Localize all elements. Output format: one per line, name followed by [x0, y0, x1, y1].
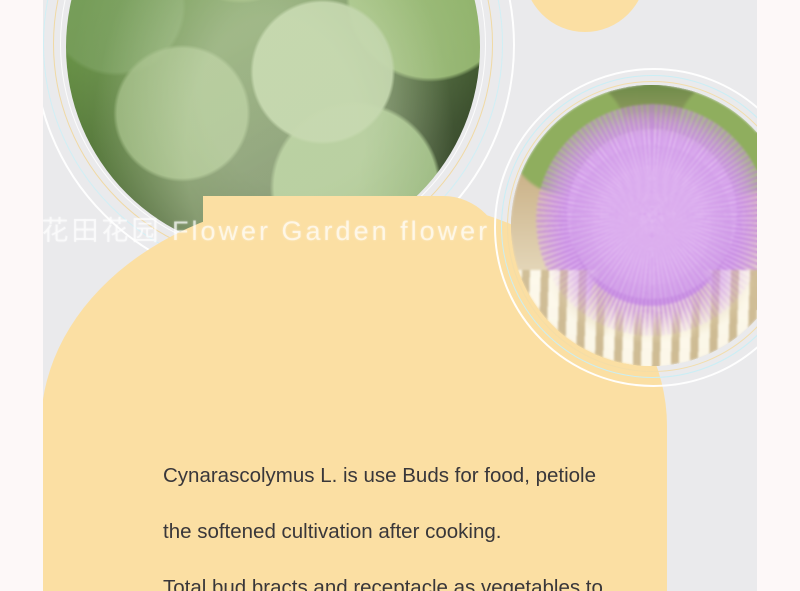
screenshot-root: org 花田花园 Flower Garden flower Cynarascol…	[0, 0, 800, 591]
slide-body-text: Cynarascolymus L. is use Buds for food, …	[163, 448, 683, 591]
body-line-2: the softened cultivation after cooking.	[163, 504, 683, 560]
body-line-1: Cynarascolymus L. is use Buds for food, …	[163, 448, 683, 504]
slide-canvas: org 花田花园 Flower Garden flower Cynarascol…	[43, 0, 757, 591]
body-line-3: Total bud bracts and receptacle as veget…	[163, 560, 683, 591]
yellow-circle-decor	[524, 0, 646, 32]
watermark-text: org 花田花园 Flower Garden flower	[43, 209, 757, 248]
